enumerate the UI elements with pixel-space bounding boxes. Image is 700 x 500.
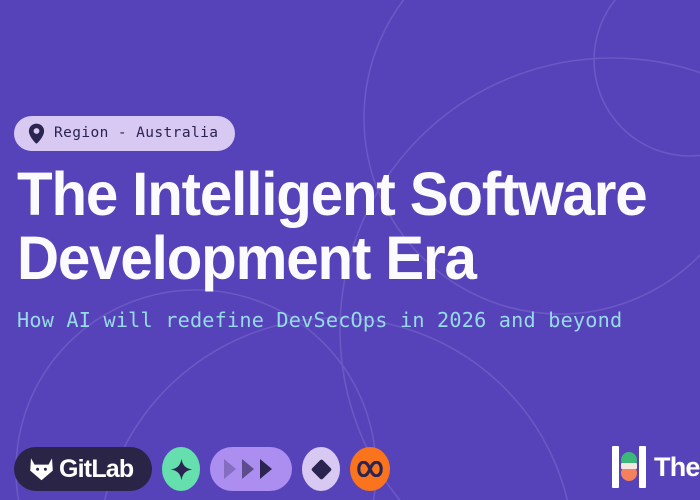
chevrons-logo-chip — [210, 447, 292, 491]
partner-bars-circles-icon — [612, 446, 646, 488]
logo-row: GitLab — [14, 447, 390, 491]
sparkle-icon — [170, 458, 193, 481]
partner-bar-right — [639, 446, 646, 488]
page-title-line-1: The Intelligent Software — [17, 160, 647, 228]
page-title: The Intelligent Software Development Era — [17, 162, 652, 290]
page-subtitle: How AI will redefine DevSecOps in 2026 a… — [17, 308, 622, 332]
diamond-logo-chip — [302, 447, 340, 491]
presentation-slide: Region - Australia The Intelligent Softw… — [0, 0, 700, 500]
region-badge-label: Region - Australia — [54, 126, 218, 141]
gitlab-tanuki-icon — [29, 457, 54, 481]
partner-lockup: The — [612, 446, 700, 488]
gitlab-logo-chip: GitLab — [14, 447, 152, 491]
partner-highlight-slab — [621, 463, 637, 469]
triple-chevron-icon — [223, 458, 279, 480]
sparkle-logo-chip — [162, 447, 200, 491]
diamond-icon — [311, 458, 332, 479]
region-badge: Region - Australia — [14, 116, 235, 151]
infinity-logo-chip — [350, 447, 390, 491]
infinity-icon — [357, 461, 383, 477]
location-pin-icon — [28, 123, 45, 144]
gitlab-wordmark: GitLab — [59, 457, 133, 482]
page-title-line-2: Development Era — [17, 226, 652, 290]
partner-wordmark: The — [654, 454, 700, 481]
partner-bar-left — [612, 446, 619, 488]
